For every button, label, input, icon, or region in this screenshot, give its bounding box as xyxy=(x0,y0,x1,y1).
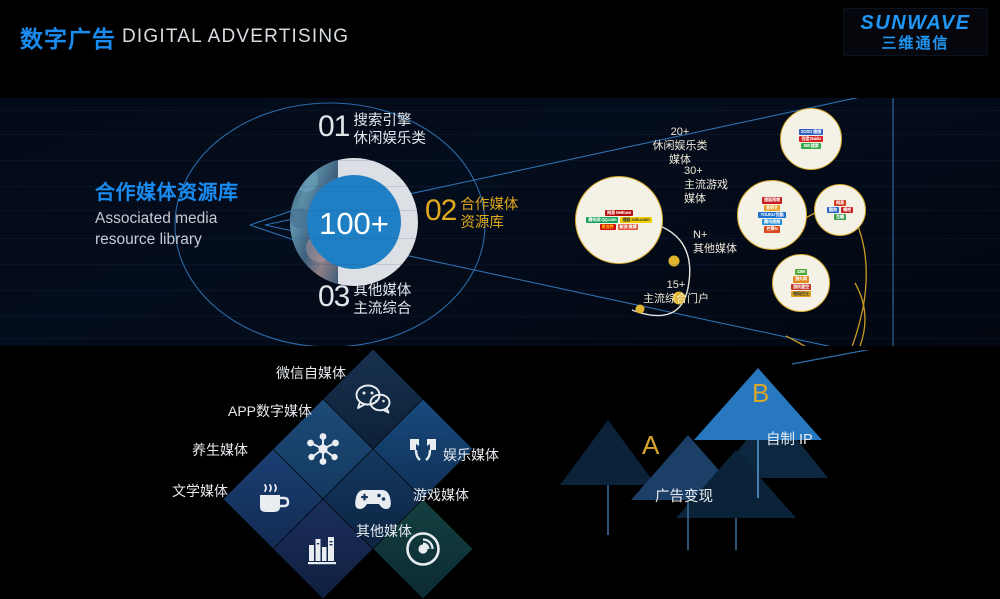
arc-node-n-line1: 其他媒体 xyxy=(693,243,737,255)
triangle-B-letter: B xyxy=(752,378,769,409)
logo-text-cn: 三维通信 xyxy=(881,36,949,51)
logo-sohu-video: 搜狐视频 xyxy=(762,197,782,203)
wechat-icon xyxy=(355,384,391,414)
diamond-label-game: 游戏媒体 xyxy=(413,485,469,505)
callout-01-line1: 搜索引擎 xyxy=(353,113,411,129)
left-label-en-1: Associated media xyxy=(95,209,285,230)
media-type-diamond-grid xyxy=(228,360,468,540)
callout-01: 01 搜索引擎 休闲娱乐类 xyxy=(318,112,426,148)
left-label-cn: 合作媒体资源库 xyxy=(95,176,285,205)
misc-logos-cluster: 网易 酷狗 唱吧 豆瓣 xyxy=(814,184,866,236)
logo-misc-4: 豆瓣 xyxy=(834,214,846,220)
page-title-en: DIGITAL ADVERTISING xyxy=(122,26,349,48)
callout-03-number: 03 xyxy=(318,282,349,312)
logo-mcdonalds: 麦当劳 xyxy=(600,224,616,230)
callout-03-line1: 其他媒体 xyxy=(353,283,411,299)
triangle-A-letter: A xyxy=(642,430,659,461)
arc-node-30-line1: 主流游戏 xyxy=(684,179,728,191)
logo-misc-1: 网易 xyxy=(834,200,846,206)
callout-03: 03 其他媒体 主流综合 xyxy=(318,282,411,318)
books-icon xyxy=(306,533,340,565)
diamond-label-wechat: 微信自媒体 xyxy=(276,363,346,383)
arc-node-20-line2: 媒体 xyxy=(669,154,691,166)
callout-01-line2: 休闲娱乐类 xyxy=(353,131,426,147)
gamepad-icon xyxy=(354,486,392,512)
arc-node-label-30: 30+ 主流游戏 媒体 xyxy=(684,165,746,206)
headphone-icon xyxy=(407,433,439,465)
diamond-label-entertainment: 娱乐媒体 xyxy=(443,445,499,465)
logo-tencent-video: 腾讯视频 xyxy=(762,219,782,225)
logo-4399: 4399 xyxy=(795,269,808,275)
diamond-label-health: 养生媒体 xyxy=(192,440,248,460)
callout-01-number: 01 xyxy=(318,112,349,142)
logo-youku: YOUKU 优酷 xyxy=(758,212,785,218)
arc-node-30-count: 30+ xyxy=(684,165,703,177)
associated-media-label: 合作媒体资源库 Associated media resource librar… xyxy=(95,176,285,251)
page-header: 数字广告 DIGITAL ADVERTISING SUNWAVE 三维通信 xyxy=(0,0,1000,78)
svg-text:100+: 100+ xyxy=(319,206,389,241)
callout-02-number: 02 xyxy=(425,196,456,226)
arc-node-20-line1: 休闲娱乐类 xyxy=(653,140,708,152)
arc-node-30-line2: 媒体 xyxy=(684,193,706,205)
logo-qq: 腾讯网 QQ.com xyxy=(586,217,618,223)
portal-logos-cluster: 网易 NetEase 腾讯网 QQ.com 搜狐 sohu.com 麦当劳 新浪… xyxy=(575,176,663,264)
arc-node-label-15: 15+ 主流综合门户 xyxy=(633,279,719,307)
logo-iqiyi: 爱奇艺 xyxy=(764,205,780,211)
logo-baidu: 百度 Baidu xyxy=(799,136,823,142)
logo-netease: 网易 NetEase xyxy=(605,210,633,216)
donut-chart: 100+ xyxy=(290,158,418,286)
callout-03-line2: 主流综合 xyxy=(353,301,411,317)
triangle-A-label: 广告变现 xyxy=(655,485,713,506)
triangle-B-label: 自制 IP xyxy=(766,428,813,449)
logo-uuu9: 游久网 xyxy=(793,276,809,282)
sunwave-logo: SUNWAVE 三维通信 xyxy=(843,8,988,56)
network-icon xyxy=(306,432,340,466)
callout-02: 02 合作媒体 资源库 xyxy=(425,196,518,232)
arc-node-15-count: 15+ xyxy=(667,279,686,291)
left-label-en-2: resource library xyxy=(95,230,285,251)
logo-sina: 新浪 微博 xyxy=(618,224,639,230)
diamond-label-other: 其他媒体 xyxy=(356,521,412,541)
game-logos-cluster: 4399 游久网 游民星空 电玩巴士 xyxy=(772,254,830,312)
logo-soso: SOSO 搜搜 xyxy=(799,129,823,135)
logo-sohu: 搜狐 sohu.com xyxy=(620,217,651,223)
diamond-label-literature: 文学媒体 xyxy=(172,481,228,501)
triangle-markers xyxy=(560,350,920,550)
arc-node-n-count: N+ xyxy=(693,229,707,241)
callout-02-line1: 合作媒体 xyxy=(460,197,518,213)
page-title-cn: 数字广告 xyxy=(20,20,116,54)
logo-gamersky: 游民星空 xyxy=(791,284,811,290)
arc-node-label-20: 20+ 休闲娱乐类 媒体 xyxy=(645,126,715,167)
coffee-icon xyxy=(256,483,290,515)
arc-node-20-count: 20+ xyxy=(671,126,690,138)
logo-text-en: SUNWAVE xyxy=(860,13,970,33)
video-logos-cluster: 搜狐视频 爱奇艺 YOUKU 优酷 腾讯视频 芒果tv xyxy=(737,180,807,250)
search-engine-logos-cluster: SOSO 搜搜 百度 Baidu 360 搜索 xyxy=(780,108,842,170)
diamond-label-app: APP数字媒体 xyxy=(228,401,312,421)
arc-node-label-n: N+ 其他媒体 xyxy=(693,229,745,257)
logo-mangotv: 芒果tv xyxy=(764,226,779,232)
logo-misc-3: 唱吧 xyxy=(841,207,853,213)
arc-node-15-line1: 主流综合门户 xyxy=(643,293,709,305)
callout-02-line2: 资源库 xyxy=(460,215,504,231)
logo-misc-2: 酷狗 xyxy=(827,207,839,213)
logo-tgbus: 电玩巴士 xyxy=(791,291,811,297)
logo-360: 360 搜索 xyxy=(801,143,820,149)
